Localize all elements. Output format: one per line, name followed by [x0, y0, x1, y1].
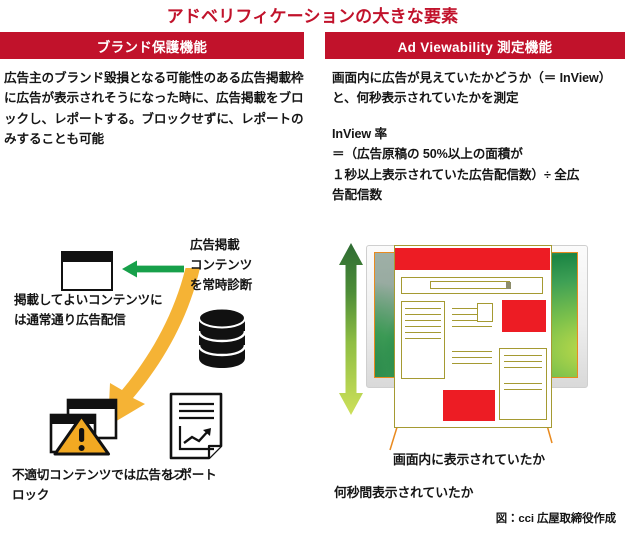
text-line [405, 326, 441, 327]
caption-display-duration: 何秒間表示されていたか [334, 482, 473, 501]
formula-line-4: 告配信数 [332, 185, 625, 205]
banner-ad-block [395, 248, 550, 270]
text-line [504, 361, 542, 362]
webpage-mock [394, 245, 552, 428]
text-line [405, 332, 441, 333]
sidebar-module [499, 348, 547, 420]
source-label-line-1: 広告掲載 [190, 236, 295, 256]
text-line [504, 389, 542, 390]
text-line [504, 367, 542, 368]
caption-allowed-content: 掲載してよいコンテンツには通常通り広告配信 [14, 291, 164, 331]
search-caret [506, 282, 511, 289]
column-header-left-label: ブランド保護機能 [97, 36, 207, 56]
column-description-left: 広告主のブランド毀損となる可能性のある広告掲載枠に広告が表示されそうになった時に… [4, 68, 304, 150]
below-fold-ad-block [443, 390, 495, 421]
report-document-chart-icon [169, 392, 223, 460]
text-line [405, 314, 441, 315]
formula-line-1: InView 率 [332, 124, 625, 144]
source-label-continuous-diagnosis: 広告掲載 コンテンツ を常時診断 [190, 236, 295, 296]
blocked-windows-warning-icon [48, 398, 120, 460]
search-bar[interactable] [401, 277, 543, 294]
caption-shown-in-viewport: 画面内に表示されていたか [393, 449, 545, 468]
column-header-brand-safety: ブランド保護機能 [0, 32, 304, 59]
source-label-line-3: を常時診断 [190, 276, 295, 296]
text-line [452, 357, 492, 358]
database-icon [198, 307, 246, 369]
formula-line-3: １秒以上表示されていた広告配信数）÷ 全広 [332, 165, 625, 185]
window-titlebar [63, 253, 111, 262]
content-column-left [401, 301, 445, 379]
caption-blocked-content: 不適切コンテンツでは広告をブロック [12, 466, 192, 506]
text-line [405, 320, 441, 321]
source-label-line-2: コンテンツ [190, 256, 295, 276]
column-description-right: 画面内に広告が見えていたかどうか（＝ InView）と、何秒表示されていたかを測… [332, 68, 624, 109]
inview-formula: InView 率 ＝（広告原稿の 50%以上の面積が １秒以上表示されていた広告… [332, 124, 625, 206]
credit-line: 図：cci 広屋取締役作成 [0, 510, 616, 526]
square-ad-block [502, 300, 546, 332]
thumbnail-box [477, 303, 493, 322]
text-line [405, 338, 441, 339]
column-header-ad-viewability: Ad Viewability 測定機能 [325, 32, 625, 59]
text-line [452, 351, 492, 352]
column-header-right-label: Ad Viewability 測定機能 [398, 36, 553, 56]
text-line [452, 326, 492, 327]
formula-line-2: ＝（広告原稿の 50%以上の面積が [332, 144, 625, 164]
page-title: アドベリフィケーションの大きな要素 [0, 2, 625, 27]
text-line [452, 363, 492, 364]
text-line [504, 355, 542, 356]
text-line [504, 383, 542, 384]
caption-report: レポート [167, 466, 277, 486]
search-input[interactable] [430, 281, 510, 289]
text-line [405, 308, 441, 309]
infographic-canvas: アドベリフィケーションの大きな要素 ブランド保護機能 広告主のブランド毀損となる… [0, 0, 625, 534]
